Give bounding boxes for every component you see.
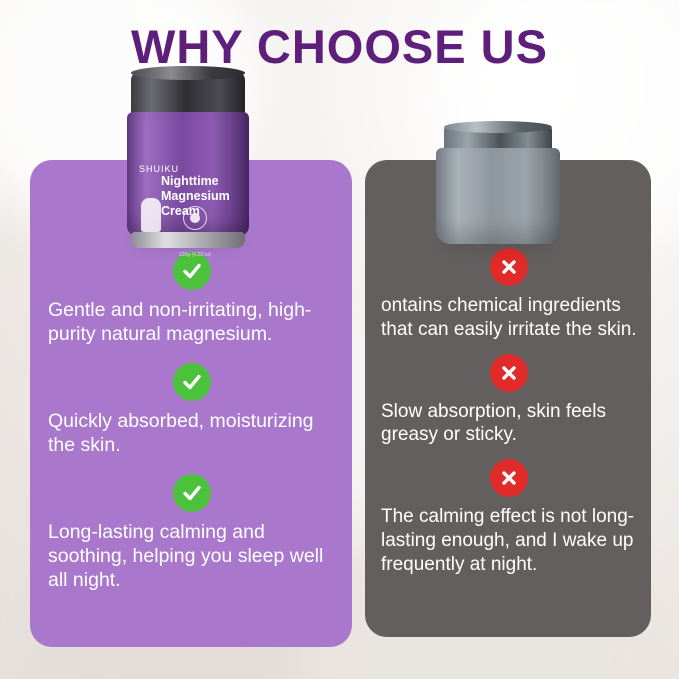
- product-size: 120g (4.23 oz): [179, 252, 211, 258]
- pros-item: Gentle and non-irritating, high-purity n…: [48, 252, 336, 347]
- pros-item-text: Quickly absorbed, moisturizing the skin.: [48, 409, 336, 458]
- jar-lid-top: [131, 66, 245, 80]
- pros-item: Quickly absorbed, moisturizing the skin.: [48, 363, 336, 458]
- cons-item-text: The calming effect is not long-lasting e…: [381, 505, 637, 576]
- jar-lid-top: [444, 121, 552, 133]
- jar-body: SHUIKU Nighttime Magnesium Cream DEEP RE…: [127, 112, 249, 236]
- cons-item: ontains chemical ingredients that can ea…: [381, 248, 637, 342]
- product-brand: SHUIKU: [139, 164, 179, 174]
- jar-body: [436, 148, 560, 244]
- cross-icon: [490, 248, 528, 286]
- page-title: WHY CHOOSE US: [0, 22, 679, 71]
- pros-item: Long-lasting calming and soothing, helpi…: [48, 474, 336, 593]
- product-name: Nighttime Magnesium Cream: [161, 174, 251, 218]
- jar-base: [131, 232, 245, 248]
- cross-icon: [490, 354, 528, 392]
- product-jar-purple: SHUIKU Nighttime Magnesium Cream DEEP RE…: [123, 72, 253, 252]
- cons-item-text: ontains chemical ingredients that can ea…: [381, 294, 637, 342]
- cross-icon: [490, 459, 528, 497]
- check-icon: [173, 363, 211, 401]
- check-icon: [173, 474, 211, 512]
- cons-item-text: Slow absorption, skin feels greasy or st…: [381, 400, 637, 448]
- product-jar-grey: [436, 126, 560, 248]
- pros-item-text: Long-lasting calming and soothing, helpi…: [48, 520, 336, 593]
- cons-item: Slow absorption, skin feels greasy or st…: [381, 354, 637, 448]
- cons-item: The calming effect is not long-lasting e…: [381, 459, 637, 576]
- comparison-infographic: WHY CHOOSE US Gentle and non-irritating,…: [0, 0, 679, 679]
- label-figure-icon: [141, 198, 161, 232]
- pros-item-text: Gentle and non-irritating, high-purity n…: [48, 298, 336, 347]
